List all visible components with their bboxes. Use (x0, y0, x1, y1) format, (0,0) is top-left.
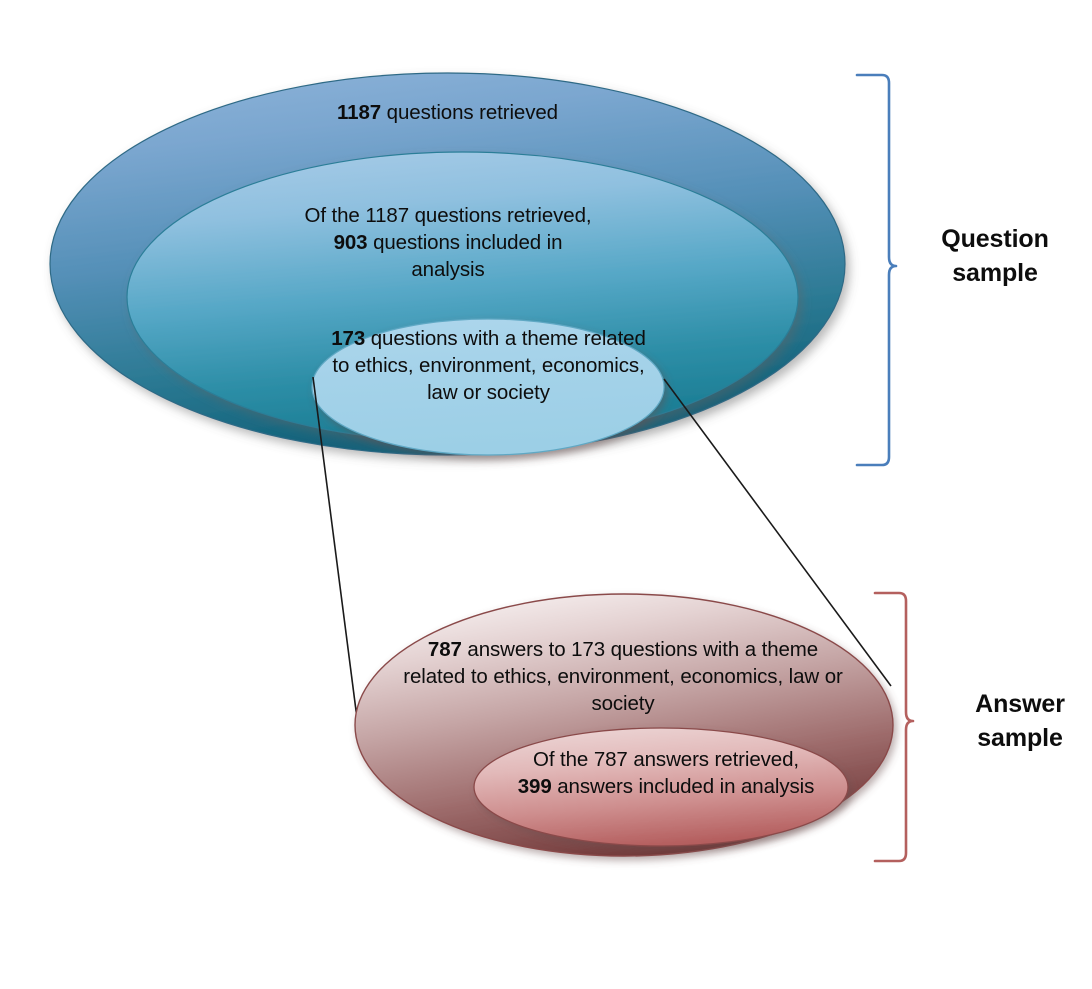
answers-included-prefix: Of the 787 answers retrieved, (533, 748, 799, 771)
answer-sample-group (355, 594, 893, 856)
question-sample-bracket-label: Question sample (915, 223, 1075, 291)
themed-answers-label: 787 answers to 173 questions with a them… (398, 636, 848, 717)
questions-retrieved-rest: questions retrieved (381, 101, 558, 124)
answers-included-count: 399 (518, 775, 552, 798)
themed-questions-suffix: questions with a theme related to ethics… (332, 327, 645, 404)
themed-questions-label: 173 questions with a theme related to et… (326, 325, 651, 406)
themed-answers-suffix: answers to 173 questions with a theme re… (403, 638, 842, 715)
answers-included-label: Of the 787 answers retrieved, 399 answer… (516, 746, 816, 800)
questions-included-count: 903 (334, 231, 368, 254)
questions-retrieved-label: 1187 questions retrieved (175, 99, 720, 126)
questions-included-prefix: Of the 1187 questions retrieved, (304, 204, 591, 227)
answer-sample-bracket-label: Answer sample (940, 688, 1092, 756)
themed-questions-count: 173 (331, 327, 365, 350)
themed-answers-count: 787 (428, 638, 462, 661)
questions-included-suffix: questions included in analysis (367, 231, 562, 281)
questions-retrieved-count: 1187 (337, 101, 381, 124)
questions-included-label: Of the 1187 questions retrieved, 903 que… (300, 202, 596, 283)
question-sample-bracket (857, 75, 896, 465)
answers-included-suffix: answers included in analysis (552, 775, 815, 798)
diagram-canvas: 1187 questions retrieved Of the 1187 que… (0, 0, 1092, 989)
diagram-vector-layer (0, 0, 1092, 989)
